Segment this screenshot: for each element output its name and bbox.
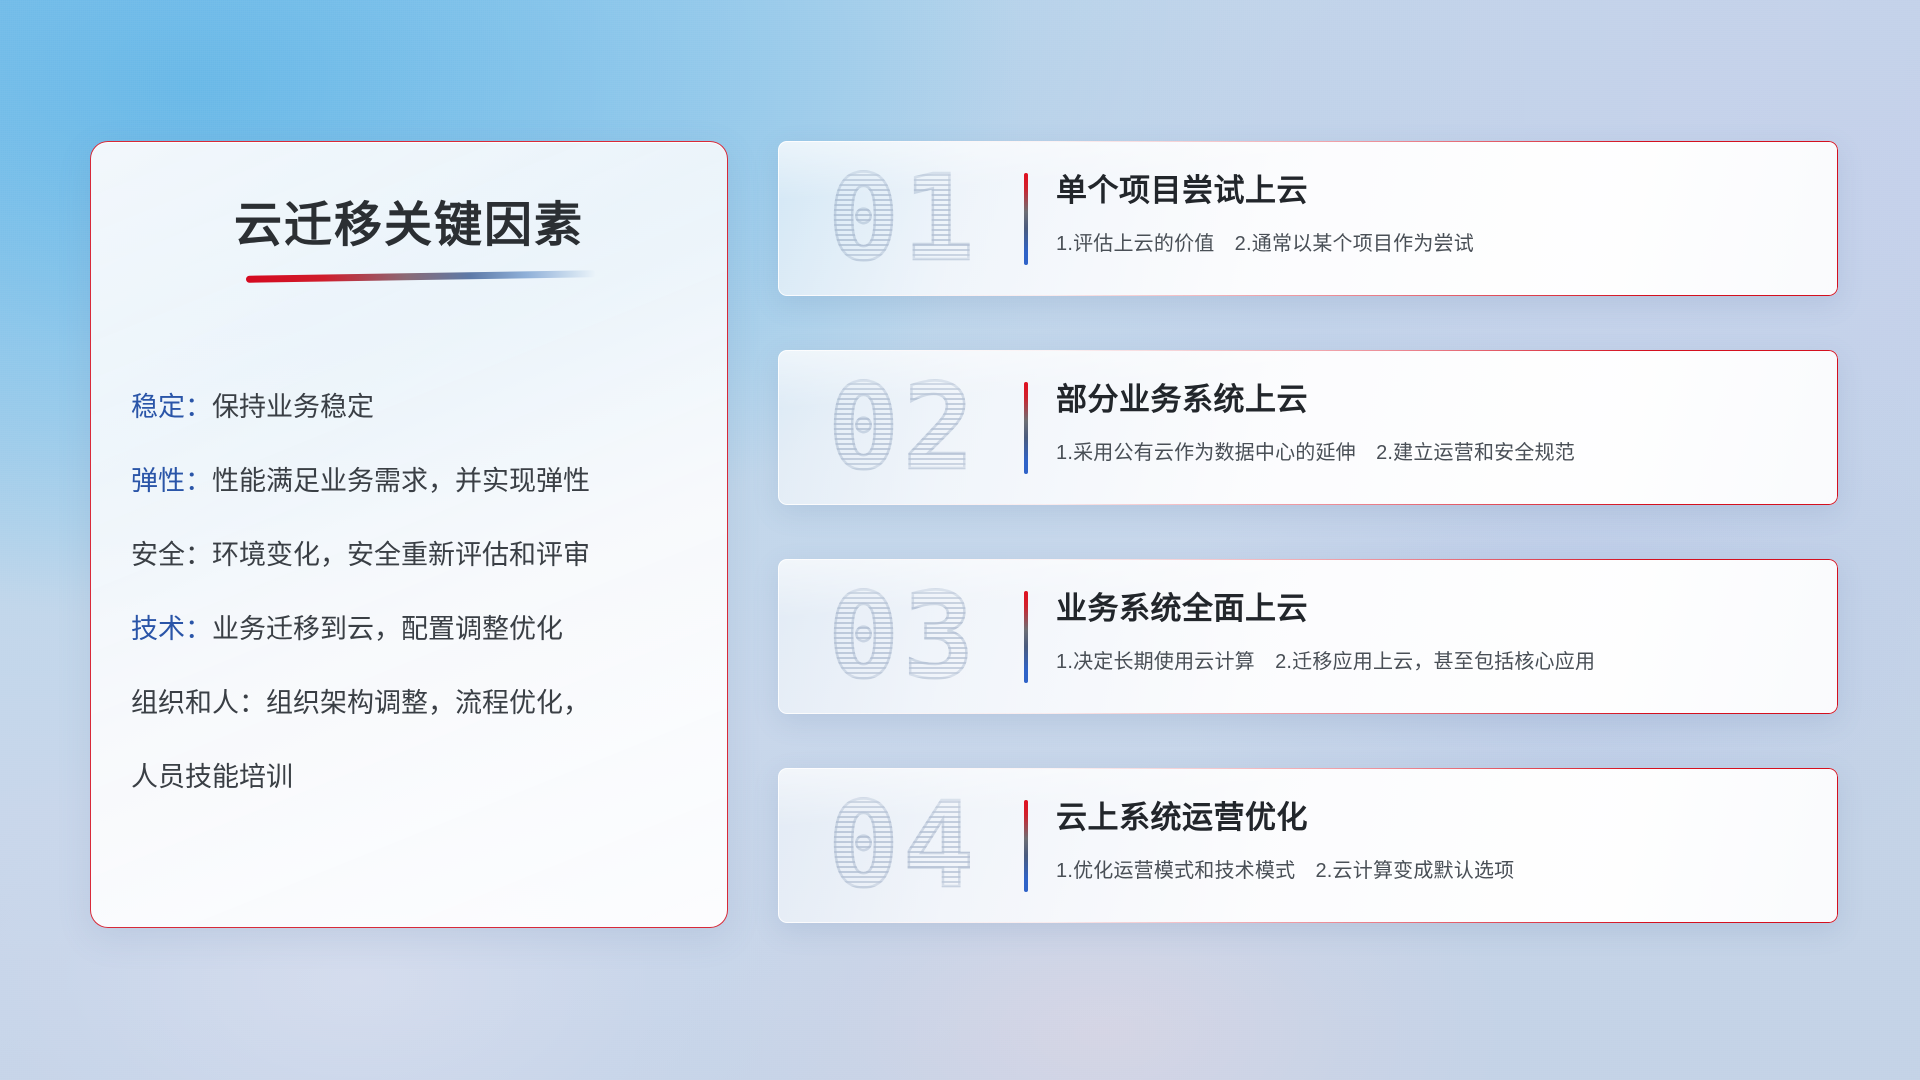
stage-accent-bar bbox=[1024, 800, 1028, 892]
factor-text: 组织架构调整，流程优化， bbox=[266, 688, 590, 718]
stage-accent-bar bbox=[1024, 173, 1028, 265]
stage-title: 业务系统全面上云 bbox=[1056, 583, 1308, 628]
stage-accent-bar bbox=[1024, 382, 1028, 474]
factor-label: 组织和人： bbox=[131, 688, 266, 718]
stage-card[interactable]: 04 云上系统运营优化 1.优化运营模式和技术模式 2.云计算变成默认选项 bbox=[778, 768, 1838, 923]
factor-text: 人员技能培训 bbox=[131, 762, 293, 792]
stage-title: 部分业务系统上云 bbox=[1056, 374, 1308, 419]
stage-title: 单个项目尝试上云 bbox=[1056, 165, 1308, 210]
stage-description: 1.采用公有云作为数据中心的延伸 2.建立运营和安全规范 bbox=[1056, 436, 1575, 465]
stage-number-watermark: 04 bbox=[808, 778, 998, 913]
factor-label: 弹性： bbox=[131, 466, 212, 496]
factor-item: 安全：环境变化，安全重新评估和评审 bbox=[131, 518, 697, 592]
stage-number-watermark: 02 bbox=[808, 360, 998, 495]
stage-card[interactable]: 01 单个项目尝试上云 1.评估上云的价值 2.通常以某个项目作为尝试 bbox=[778, 141, 1838, 296]
stage-description: 1.评估上云的价值 2.通常以某个项目作为尝试 bbox=[1056, 227, 1474, 256]
stage-description: 1.决定长期使用云计算 2.迁移应用上云，甚至包括核心应用 bbox=[1056, 645, 1595, 674]
factor-text: 保持业务稳定 bbox=[212, 392, 374, 422]
factor-text: 业务迁移到云，配置调整优化 bbox=[212, 614, 563, 644]
key-factors-list: 稳定：保持业务稳定 弹性：性能满足业务需求，并实现弹性 安全：环境变化，安全重新… bbox=[131, 370, 697, 814]
stage-description: 1.优化运营模式和技术模式 2.云计算变成默认选项 bbox=[1056, 854, 1514, 883]
factor-text: 环境变化，安全重新评估和评审 bbox=[212, 540, 590, 570]
factor-label: 稳定： bbox=[131, 392, 212, 422]
factor-label: 技术： bbox=[131, 614, 212, 644]
stage-accent-bar bbox=[1024, 591, 1028, 683]
factor-item: 技术：业务迁移到云，配置调整优化 bbox=[131, 592, 697, 666]
title-underline-gradient bbox=[246, 270, 596, 282]
factor-label: 安全： bbox=[131, 540, 212, 570]
factor-item: 人员技能培训 bbox=[131, 740, 697, 814]
stage-card[interactable]: 03 业务系统全面上云 1.决定长期使用云计算 2.迁移应用上云，甚至包括核心应… bbox=[778, 559, 1838, 714]
factor-text: 性能满足业务需求，并实现弹性 bbox=[212, 466, 590, 496]
factor-item: 组织和人：组织架构调整，流程优化， bbox=[131, 666, 697, 740]
slide-canvas: 云迁移关键因素 稳定：保持业务稳定 弹性：性能满足业务需求，并实现弹性 安全：环… bbox=[0, 0, 1920, 1080]
factor-item: 稳定：保持业务稳定 bbox=[131, 370, 697, 444]
factor-item: 弹性：性能满足业务需求，并实现弹性 bbox=[131, 444, 697, 518]
page-title: 云迁移关键因素 bbox=[91, 185, 727, 255]
stage-card[interactable]: 02 部分业务系统上云 1.采用公有云作为数据中心的延伸 2.建立运营和安全规范 bbox=[778, 350, 1838, 505]
stage-number-watermark: 03 bbox=[808, 569, 998, 704]
key-factors-panel: 云迁移关键因素 稳定：保持业务稳定 弹性：性能满足业务需求，并实现弹性 安全：环… bbox=[90, 141, 728, 928]
stage-title: 云上系统运营优化 bbox=[1056, 792, 1308, 837]
stage-number-watermark: 01 bbox=[808, 151, 998, 286]
